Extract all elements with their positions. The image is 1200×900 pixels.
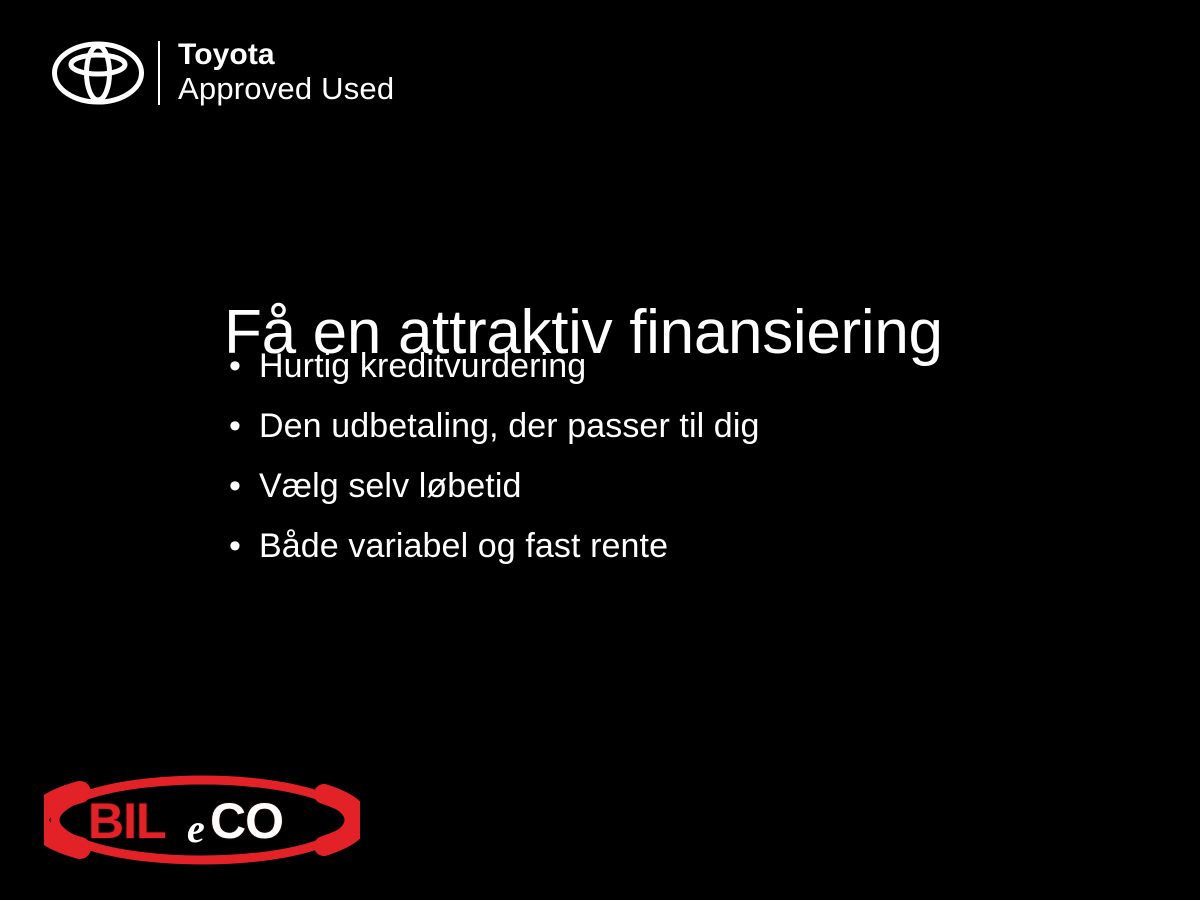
- brand-wordmark: Toyota Approved Used: [178, 39, 394, 107]
- logo-text-e: e: [187, 806, 205, 851]
- bullet-marker-icon: •: [226, 342, 259, 390]
- list-item-label: Den udbetaling, der passer til dig: [259, 402, 759, 450]
- brand-divider: [158, 41, 160, 105]
- toyota-emblem-icon: [52, 41, 144, 105]
- list-item: • Vælg selv løbetid: [226, 462, 759, 522]
- list-item: • Den udbetaling, der passer til dig: [226, 402, 759, 462]
- brand-program: Approved Used: [178, 72, 394, 107]
- slide-canvas: Toyota Approved Used Få en attraktiv fin…: [0, 0, 1200, 900]
- toyota-approved-used-lockup: Toyota Approved Used: [52, 34, 394, 112]
- bileco-dealer-logo: BIL e CO: [44, 768, 360, 872]
- logo-text-co: CO: [210, 793, 283, 849]
- brand-name: Toyota: [178, 39, 394, 71]
- list-item: • Hurtig kreditvurdering: [226, 342, 759, 402]
- bullet-marker-icon: •: [226, 462, 259, 510]
- list-item-label: Hurtig kreditvurdering: [259, 342, 586, 390]
- logo-wordmark: BIL e CO: [88, 793, 283, 851]
- list-item: • Både variabel og fast rente: [226, 522, 759, 582]
- bullet-marker-icon: •: [226, 522, 259, 570]
- feature-bullet-list: • Hurtig kreditvurdering • Den udbetalin…: [226, 342, 759, 582]
- list-item-label: Vælg selv løbetid: [259, 462, 521, 510]
- bullet-marker-icon: •: [226, 402, 259, 450]
- logo-text-bil: BIL: [88, 793, 166, 849]
- list-item-label: Både variabel og fast rente: [259, 522, 668, 570]
